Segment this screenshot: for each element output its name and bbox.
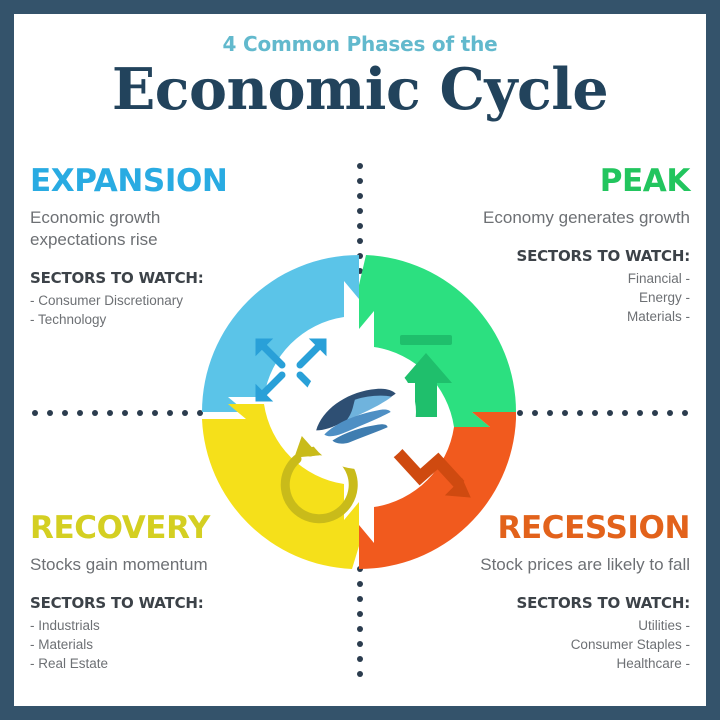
cycle-wheel (194, 247, 524, 577)
sector-list-recovery: - Industrials - Materials - Real Estate (30, 616, 330, 673)
phase-title-expansion: EXPANSION (30, 164, 330, 198)
dot (592, 410, 598, 416)
dot (357, 208, 363, 214)
dot (637, 410, 643, 416)
phase-description-expansion: Economic growth expectations rise (30, 207, 330, 251)
sectors-heading-recession: SECTORS TO WATCH: (390, 594, 690, 612)
dot (107, 410, 113, 416)
dot (357, 223, 363, 229)
dot (122, 410, 128, 416)
header: 4 Common Phases of the Economic Cycle (14, 14, 706, 120)
dot (652, 410, 658, 416)
divider-dots-left (32, 410, 212, 416)
divider-dots-bottom (357, 566, 363, 686)
dot (357, 163, 363, 169)
dot (357, 238, 363, 244)
cycle-wheel-svg (194, 247, 524, 577)
dot (32, 410, 38, 416)
dot (357, 641, 363, 647)
dot (357, 611, 363, 617)
dot (532, 410, 538, 416)
subtitle: 4 Common Phases of the (14, 32, 706, 56)
phase-title-peak: PEAK (390, 164, 690, 198)
phase-description-peak: Economy generates growth (390, 207, 690, 229)
sector-item: Healthcare - (390, 654, 690, 673)
dot (92, 410, 98, 416)
phase-description-line: Economy generates growth (390, 207, 690, 229)
divider-dots-right (508, 410, 688, 416)
sector-item: - Materials (30, 635, 330, 654)
dot (607, 410, 613, 416)
phase-description-line: Economic growth (30, 207, 330, 229)
dot (137, 410, 143, 416)
sector-item: - Real Estate (30, 654, 330, 673)
sector-item: - Industrials (30, 616, 330, 635)
dot (357, 671, 363, 677)
dot (357, 656, 363, 662)
dot (47, 410, 53, 416)
sectors-heading-recovery: SECTORS TO WATCH: (30, 594, 330, 612)
dot (562, 410, 568, 416)
dot (357, 596, 363, 602)
infographic-frame: 4 Common Phases of the Economic Cycle (0, 0, 720, 720)
dot (152, 410, 158, 416)
infographic-canvas: 4 Common Phases of the Economic Cycle (14, 14, 706, 706)
dot (357, 626, 363, 632)
page-title: Economic Cycle (14, 60, 706, 120)
sector-item: Consumer Staples - (390, 635, 690, 654)
dot (547, 410, 553, 416)
sector-item: Utilities - (390, 616, 690, 635)
dot (182, 410, 188, 416)
dot (577, 410, 583, 416)
dot (357, 193, 363, 199)
dot (77, 410, 83, 416)
dot (622, 410, 628, 416)
dot (62, 410, 68, 416)
dot (667, 410, 673, 416)
dot (357, 178, 363, 184)
sector-list-recession: Utilities - Consumer Staples - Healthcar… (390, 616, 690, 673)
dot (682, 410, 688, 416)
dot (357, 581, 363, 587)
dot (167, 410, 173, 416)
